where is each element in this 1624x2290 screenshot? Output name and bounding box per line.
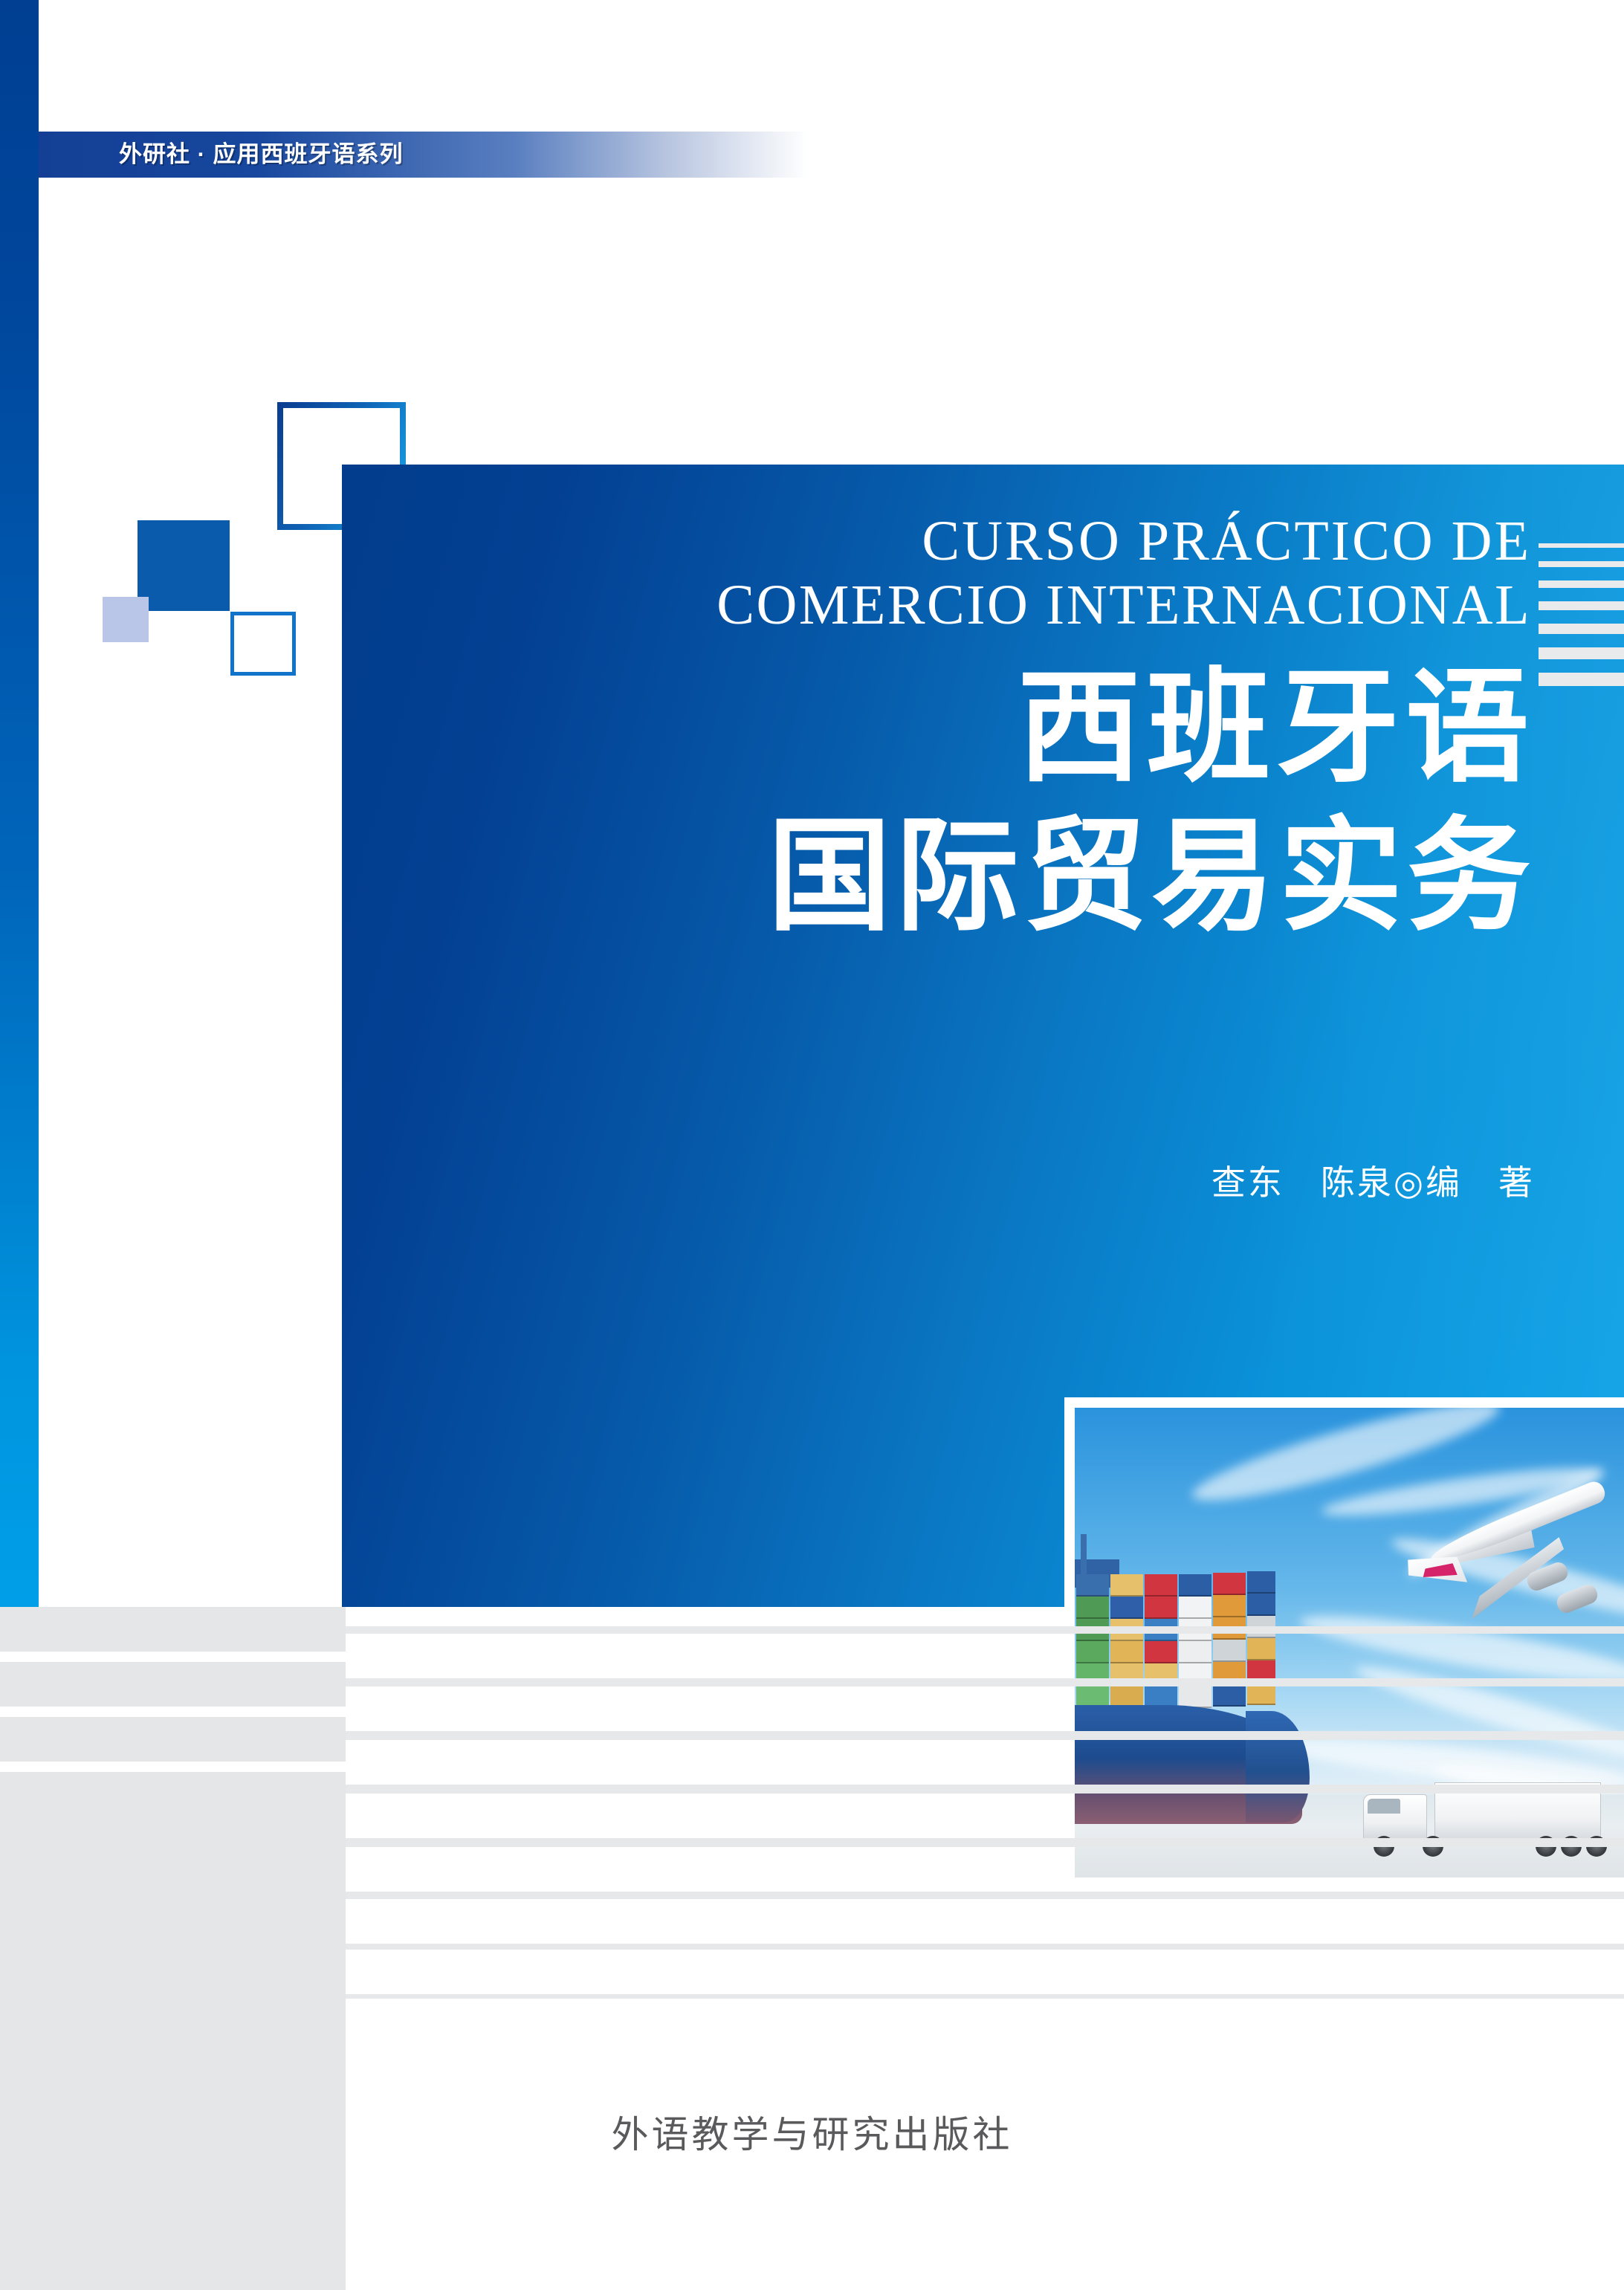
rule-stripe xyxy=(1539,580,1624,588)
bottom-band xyxy=(346,1678,1624,1686)
ship-mast xyxy=(1081,1534,1087,1579)
bottom-band xyxy=(0,1717,346,1762)
bottom-band xyxy=(346,1731,1624,1740)
bottom-band xyxy=(0,1607,346,1652)
left-spine-bar xyxy=(0,0,39,1607)
bottom-band xyxy=(0,1662,346,1707)
bottom-band xyxy=(346,1838,1624,1847)
rule-stripe xyxy=(1539,624,1624,634)
bottom-band xyxy=(346,1944,1624,1950)
spanish-title-line2: COMERCIO INTERNACIONAL xyxy=(342,573,1531,637)
rule-stripe xyxy=(1539,543,1624,548)
bottom-band xyxy=(346,1785,1624,1793)
rule-stripe xyxy=(1539,647,1624,659)
bottom-band xyxy=(0,1937,346,1982)
rule-stripe xyxy=(1539,673,1624,686)
chinese-title-line2: 国际贸易实务 xyxy=(342,803,1535,951)
decorative-square-outline-small xyxy=(230,612,296,676)
decorative-square-solid-pale xyxy=(103,597,149,642)
bottom-stripes-left xyxy=(0,1607,346,1992)
chinese-title: 西班牙语 国际贸易实务 xyxy=(342,654,1535,951)
publisher-name: 外语教学与研究出版社 xyxy=(0,2105,1624,2158)
spanish-title: CURSO PRÁCTICO DE COMERCIO INTERNACIONAL xyxy=(342,509,1531,637)
decorative-rule-stripes xyxy=(1539,543,1624,686)
bottom-band xyxy=(0,1827,346,1872)
bottom-stripe-zone xyxy=(0,1607,1624,2290)
bottom-band xyxy=(346,1626,1624,1634)
bottom-band xyxy=(346,1994,1624,1999)
bottom-band xyxy=(346,1892,1624,1899)
spanish-title-line1: CURSO PRÁCTICO DE xyxy=(342,509,1531,573)
author-line: 查东 陈泉◎编 著 xyxy=(342,1156,1535,1205)
series-label: 外研社 · 应用西班牙语系列 xyxy=(119,133,788,176)
rule-stripe xyxy=(1539,601,1624,610)
bottom-band xyxy=(0,1772,346,1817)
bottom-band xyxy=(0,1882,346,1927)
decorative-square-solid-blue xyxy=(138,520,230,611)
rule-stripe xyxy=(1539,561,1624,567)
bottom-stripes-right xyxy=(346,1607,1624,1999)
chinese-title-line1: 西班牙语 xyxy=(342,654,1535,803)
